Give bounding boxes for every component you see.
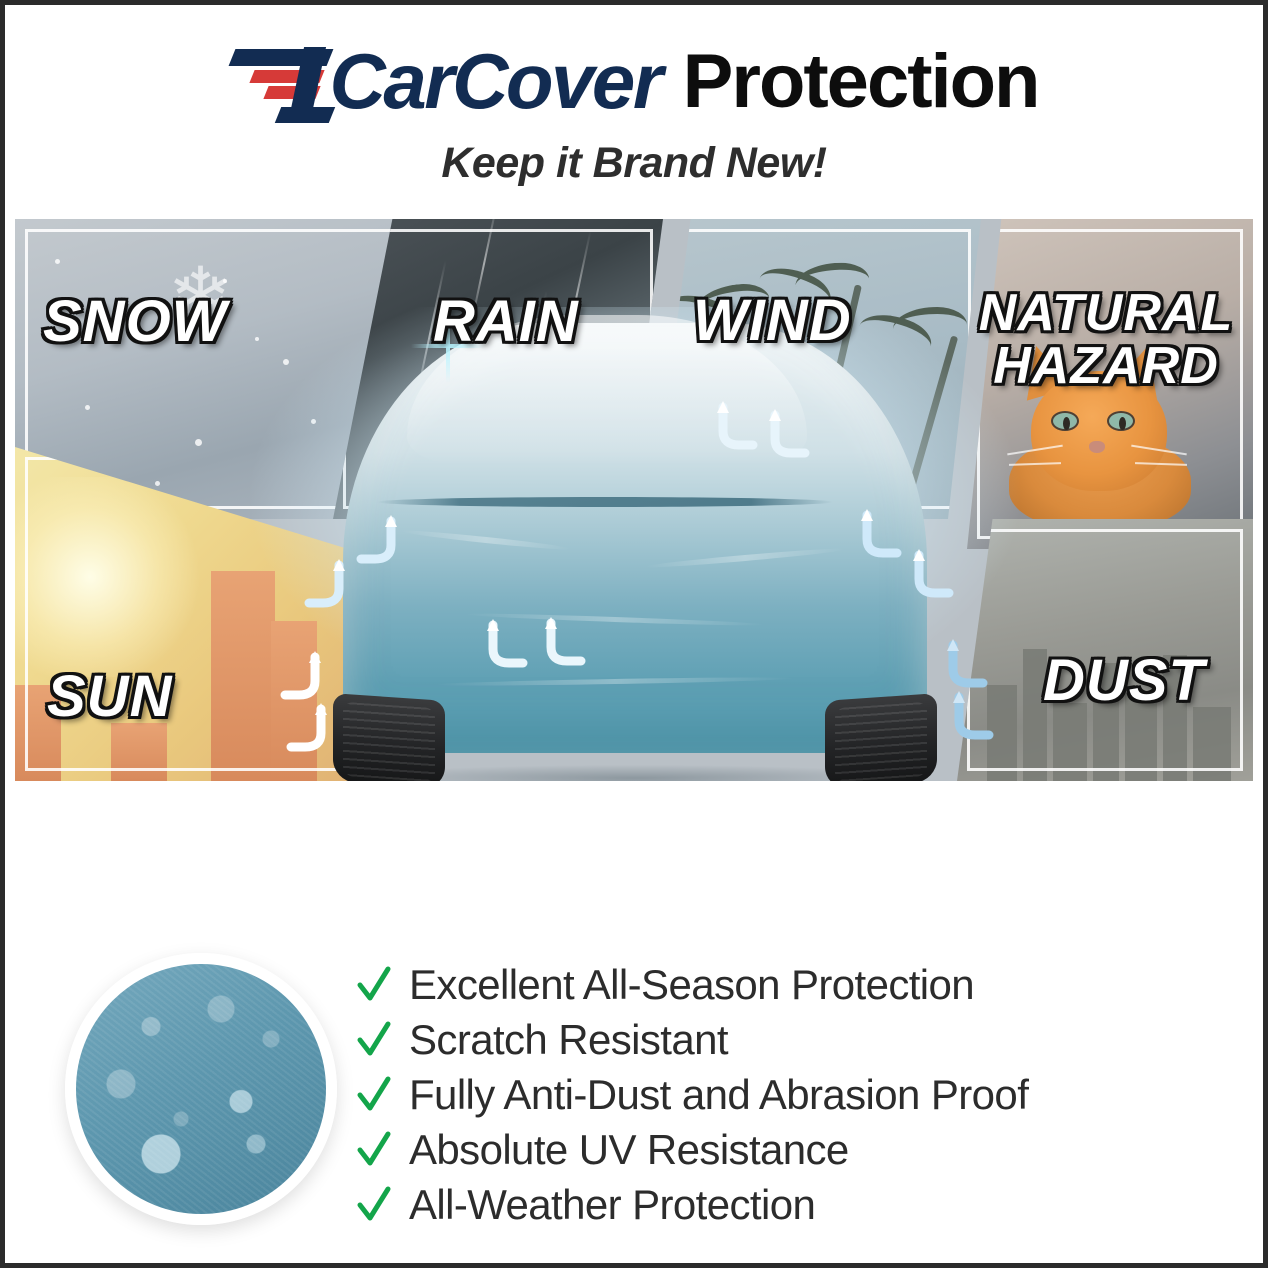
weather-collage: ❄ — [15, 219, 1253, 781]
check-icon — [357, 965, 391, 1005]
icarcover-logo-icon — [230, 39, 342, 123]
feature-label: All-Weather Protection — [409, 1181, 815, 1229]
list-item: Excellent All-Season Protection — [357, 957, 1177, 1012]
label-sun: SUN — [47, 667, 172, 726]
fabric-droplets-image — [65, 953, 337, 1225]
feature-label: Absolute UV Resistance — [409, 1126, 849, 1174]
deflection-arrow-icon — [277, 651, 323, 705]
label-wind: WIND — [693, 291, 852, 350]
label-natural-hazard-line2: HAZARD — [965, 340, 1247, 393]
deflection-arrow-icon — [283, 703, 329, 757]
feature-label: Fully Anti-Dust and Abrasion Proof — [409, 1071, 1028, 1119]
deflection-arrow-icon — [951, 691, 997, 745]
list-item: Absolute UV Resistance — [357, 1122, 1177, 1177]
deflection-arrow-icon — [911, 549, 957, 603]
brand-name: CarCover — [330, 36, 661, 127]
header: CarCover Protection Keep it Brand New! — [5, 5, 1263, 210]
check-icon — [357, 1130, 391, 1170]
features-section: Excellent All-Season Protection Scratch … — [5, 795, 1263, 1263]
feature-label: Scratch Resistant — [409, 1016, 728, 1064]
check-icon — [357, 1185, 391, 1225]
check-icon — [357, 1020, 391, 1060]
deflection-arrow-icon — [767, 409, 813, 463]
deflection-arrow-icon — [301, 559, 347, 613]
label-natural-hazard-line1: NATURAL — [965, 287, 1247, 340]
list-item: Scratch Resistant — [357, 1012, 1177, 1067]
feature-label: Excellent All-Season Protection — [409, 961, 974, 1009]
sun-glow — [15, 477, 205, 677]
label-dust: DUST — [1043, 651, 1205, 710]
deflection-arrow-icon — [485, 619, 531, 673]
deflection-arrow-icon — [715, 401, 761, 455]
page-title: Protection — [683, 38, 1039, 125]
label-rain: RAIN — [433, 292, 579, 351]
list-item: All-Weather Protection — [357, 1177, 1177, 1232]
brand-title-row: CarCover Protection — [230, 35, 1039, 127]
list-item: Fully Anti-Dust and Abrasion Proof — [357, 1067, 1177, 1122]
deflection-arrow-icon — [945, 639, 991, 693]
product-infographic: CarCover Protection Keep it Brand New! ❄ — [0, 0, 1268, 1268]
label-natural-hazard: NATURAL HAZARD — [965, 287, 1247, 393]
water-beading-swatch — [65, 953, 337, 1225]
deflection-arrow-icon — [859, 509, 905, 563]
feature-list: Excellent All-Season Protection Scratch … — [357, 957, 1177, 1232]
check-icon — [357, 1075, 391, 1115]
deflection-arrow-icon — [543, 617, 589, 671]
deflection-arrow-icon — [353, 515, 399, 569]
label-snow: SNOW — [43, 292, 227, 351]
tagline: Keep it Brand New! — [441, 139, 826, 188]
